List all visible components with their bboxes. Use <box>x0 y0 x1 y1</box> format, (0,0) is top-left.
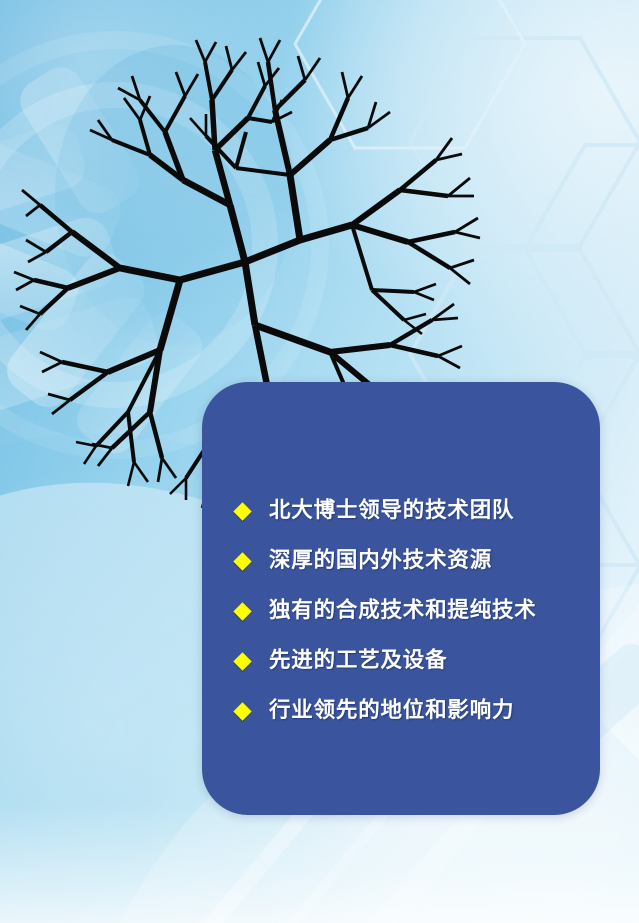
diamond-bullet-icon <box>233 502 251 520</box>
list-item: 先进的工艺及设备 <box>236 636 582 686</box>
highlights-list: 北大博士领导的技术团队 深厚的国内外技术资源 独有的合成技术和提纯技术 先进的工… <box>236 486 582 736</box>
list-item: 独有的合成技术和提纯技术 <box>236 586 582 636</box>
diamond-bullet-icon <box>233 652 251 670</box>
highlight-label: 北大博士领导的技术团队 <box>269 500 514 522</box>
diamond-bullet-icon <box>233 602 251 620</box>
diamond-bullet-icon <box>233 552 251 570</box>
poster-canvas: 北大博士领导的技术团队 深厚的国内外技术资源 独有的合成技术和提纯技术 先进的工… <box>0 0 639 923</box>
highlight-label: 独有的合成技术和提纯技术 <box>269 600 537 622</box>
highlight-label: 先进的工艺及设备 <box>269 650 447 672</box>
highlight-label: 行业领先的地位和影响力 <box>269 700 514 722</box>
highlight-label: 深厚的国内外技术资源 <box>269 550 492 572</box>
highlights-panel: 北大博士领导的技术团队 深厚的国内外技术资源 独有的合成技术和提纯技术 先进的工… <box>202 382 600 815</box>
list-item: 北大博士领导的技术团队 <box>236 486 582 536</box>
diamond-bullet-icon <box>233 702 251 720</box>
list-item: 深厚的国内外技术资源 <box>236 536 582 586</box>
list-item: 行业领先的地位和影响力 <box>236 686 582 736</box>
